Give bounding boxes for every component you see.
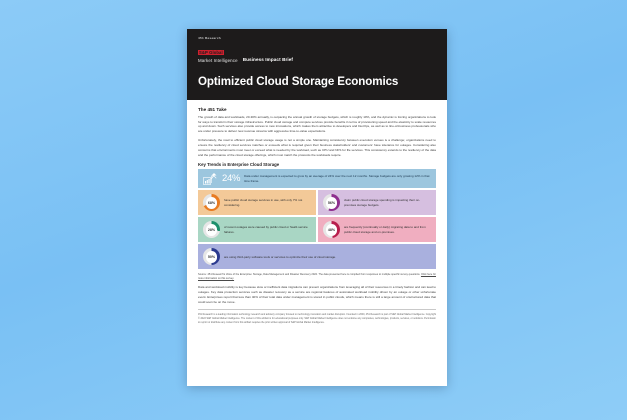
publisher-logo: 451 Research S&P Global Market Intellige… <box>198 37 436 63</box>
donut-chart: 56% <box>323 194 340 211</box>
section-heading-take: The 451 Take <box>198 107 436 112</box>
logo-451-research: 451 Research <box>198 37 436 40</box>
document-page: 451 Research S&P Global Market Intellige… <box>187 29 447 386</box>
stat-card-text: claim public cloud storage spending is i… <box>344 198 431 207</box>
donut-chart: 28% <box>203 221 220 238</box>
stat-card: 56%claim public cloud storage spending i… <box>318 190 436 215</box>
stat-card: 28%of recent outages were caused by publ… <box>198 217 316 242</box>
banner-text: Data under management is expected to gro… <box>244 174 431 183</box>
document-header: 451 Research S&P Global Market Intellige… <box>187 29 447 100</box>
logo-sp-global-bottom: Market Intelligence <box>198 59 238 63</box>
infographic-banner: 24% Data under management is expected to… <box>198 169 436 188</box>
donut-chart: 68% <box>203 194 220 211</box>
source-note-text: Source: 451 Research's Voice of the Ente… <box>198 273 420 276</box>
section-heading-key-trends: Key Trends in Enterprise Cloud Storage <box>198 162 436 167</box>
donut-percent: 28% <box>208 228 215 232</box>
body-paragraph: Unfortunately, the road to efficient pub… <box>198 138 436 158</box>
donut-percent: 68% <box>208 201 215 205</box>
page-title: Optimized Cloud Storage Economics <box>198 75 436 88</box>
divider <box>198 309 436 310</box>
stat-column-left: 68%have public cloud storage services in… <box>198 190 316 242</box>
stat-card-text: are frequently (continually or daily) mi… <box>344 225 431 234</box>
brief-type-tag: Business Impact Brief <box>243 58 293 63</box>
donut-percent: 56% <box>328 201 335 205</box>
donut-percent: 50% <box>208 255 215 259</box>
legal-notice: 451 Research is a leading information te… <box>198 313 436 325</box>
stat-card-text: of recent outages were caused by public … <box>224 225 311 234</box>
body-paragraph: The growth of data and workloads, 20-30%… <box>198 115 436 135</box>
donut-chart: 50% <box>203 248 220 265</box>
stat-column-right: 56%claim public cloud storage spending i… <box>318 190 436 242</box>
banner-percent: 24% <box>222 173 240 184</box>
stat-card-wide: 50% are using third-party software tools… <box>198 244 436 269</box>
stat-card: 68%have public cloud storage services in… <box>198 190 316 215</box>
stat-card-text: have public cloud storage services in us… <box>224 198 311 207</box>
donut-chart: 48% <box>323 221 340 238</box>
logo-sp-global-top: S&P Global <box>198 50 224 55</box>
stat-card-grid: 68%have public cloud storage services in… <box>198 190 436 242</box>
stat-card-text: are using third-party software tools or … <box>224 255 431 260</box>
donut-percent: 48% <box>328 228 335 232</box>
closing-paragraph: Data and workload mobility is key becaus… <box>198 285 436 305</box>
stat-card: 48%are frequently (continually or daily)… <box>318 217 436 242</box>
source-note: Source: 451 Research's Voice of the Ente… <box>198 273 436 281</box>
document-body: The 451 Take The growth of data and work… <box>187 100 447 324</box>
infographic: 24% Data under management is expected to… <box>198 169 436 269</box>
chart-growth-icon <box>203 172 218 185</box>
logo-sp-global: S&P Global Market Intelligence <box>198 42 238 63</box>
